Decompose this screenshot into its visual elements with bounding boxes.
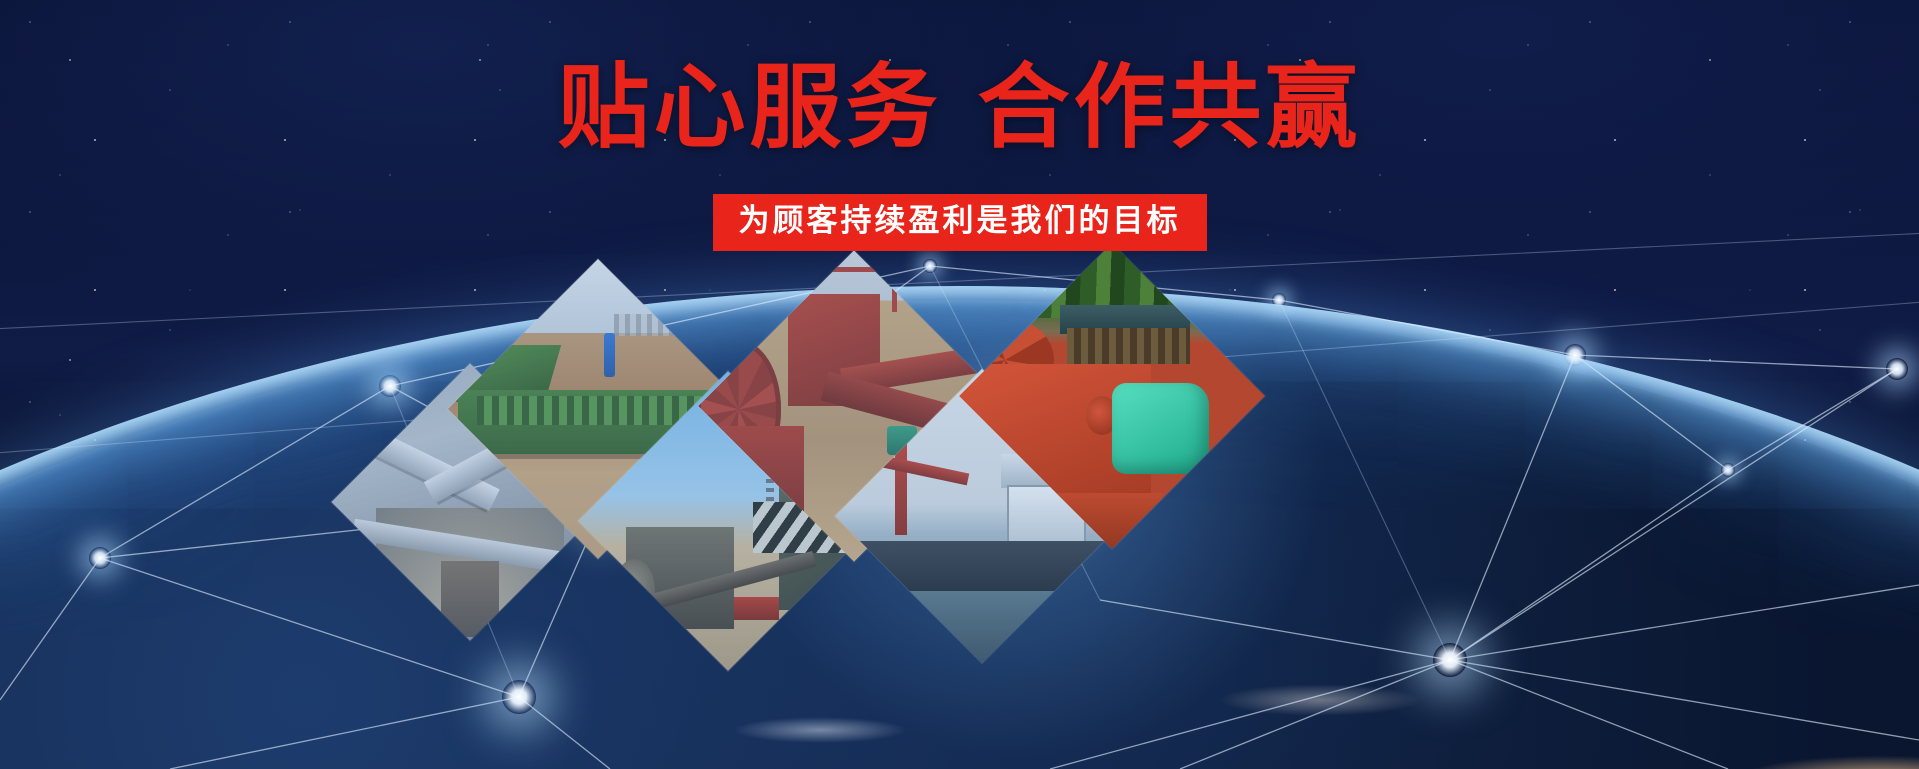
earth-city-lights <box>0 300 1919 769</box>
banner-headline: 贴心服务 合作共赢 <box>0 62 1919 154</box>
banner-subtitle: 为顾客持续盈利是我们的目标 <box>713 194 1207 251</box>
banner-subtitle-wrap: 为顾客持续盈利是我们的目标 <box>0 194 1919 251</box>
hero-banner: 贴心服务 合作共赢 为顾客持续盈利是我们的目标 <box>0 0 1919 769</box>
earth-globe <box>0 300 1919 769</box>
